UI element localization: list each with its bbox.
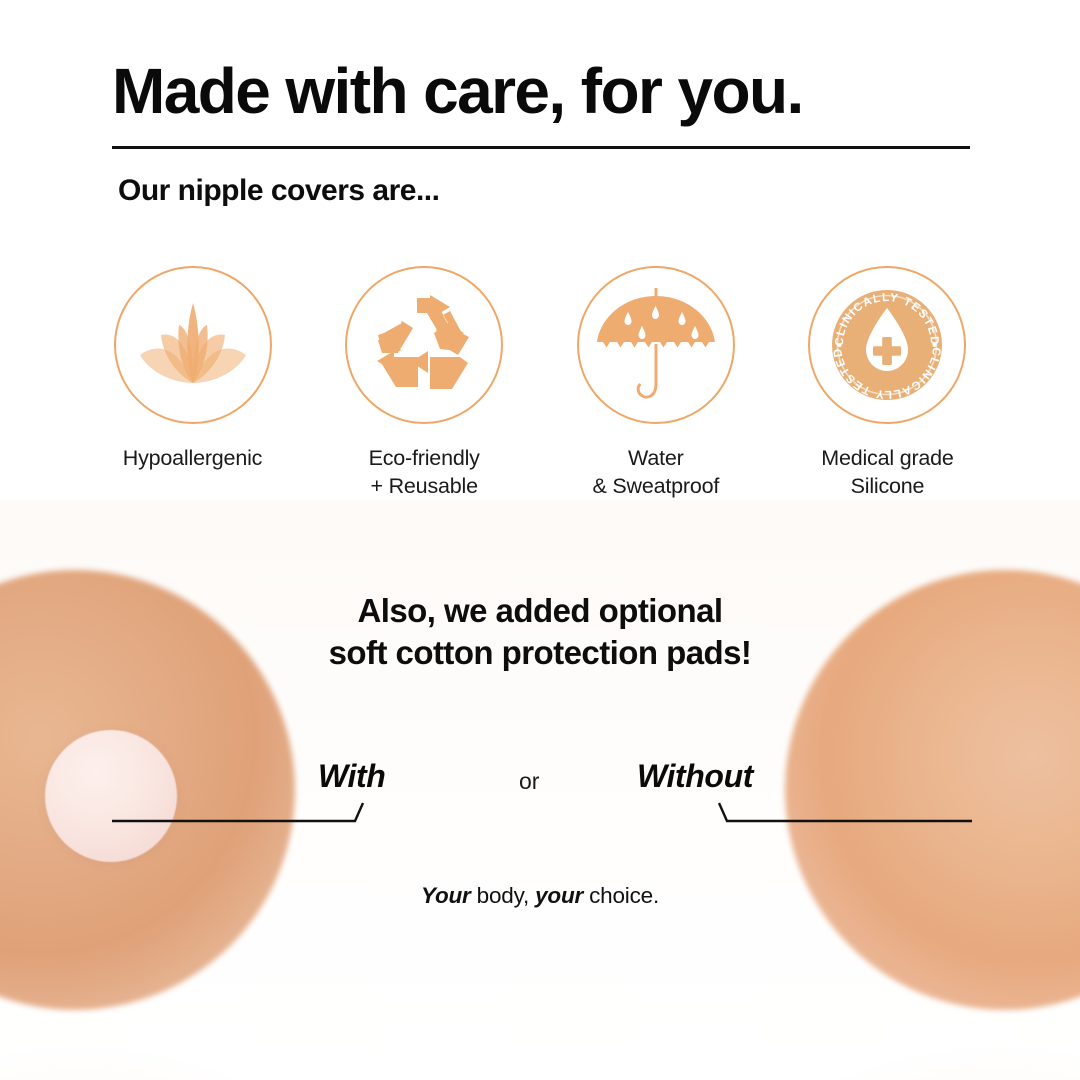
feature-label: Water & Sweatproof <box>592 444 719 501</box>
page-title: Made with care, for you. <box>112 58 982 126</box>
tagline-plain-1: body, <box>471 883 535 908</box>
promo-graphic: Made with care, for you. Our nipple cove… <box>0 0 1080 1080</box>
feature-item-medical-grade: CLINICALLY TESTED CLINICALLY TESTED <box>785 266 990 501</box>
cotton-protection-pad <box>45 730 177 862</box>
recycle-icon <box>372 295 476 395</box>
feature-label: Medical grade Silicone <box>821 444 953 501</box>
tagline-bold-your-1: Your <box>421 883 471 908</box>
feature-icon-ring <box>345 266 503 424</box>
lotus-flower-icon <box>134 295 252 395</box>
feature-label: Hypoallergenic <box>123 444 262 472</box>
option-label-with: With <box>318 758 385 795</box>
clinically-tested-badge-icon: CLINICALLY TESTED CLINICALLY TESTED <box>823 281 951 409</box>
tagline-bold-your-2: your <box>535 883 583 908</box>
feature-item-hypoallergenic: Hypoallergenic <box>90 266 295 472</box>
feature-list: Hypoallergenic <box>90 266 990 501</box>
feature-icon-ring: CLINICALLY TESTED CLINICALLY TESTED <box>808 266 966 424</box>
feature-icon-ring <box>114 266 272 424</box>
subheading: Our nipple covers are... <box>118 174 439 208</box>
header-divider <box>112 146 970 149</box>
tagline: Your body, your choice. <box>0 883 1080 909</box>
mid-caption: Also, we added optional soft cotton prot… <box>0 590 1080 674</box>
tagline-plain-2: choice. <box>583 883 659 908</box>
option-label-without: Without <box>637 758 753 795</box>
feature-icon-ring <box>577 266 735 424</box>
feature-label: Eco-friendly + Reusable <box>369 444 480 501</box>
option-separator-or: or <box>519 768 539 795</box>
umbrella-rain-icon <box>594 286 718 404</box>
feature-item-waterproof: Water & Sweatproof <box>553 266 758 501</box>
feature-item-eco-friendly: Eco-friendly + Reusable <box>322 266 527 501</box>
